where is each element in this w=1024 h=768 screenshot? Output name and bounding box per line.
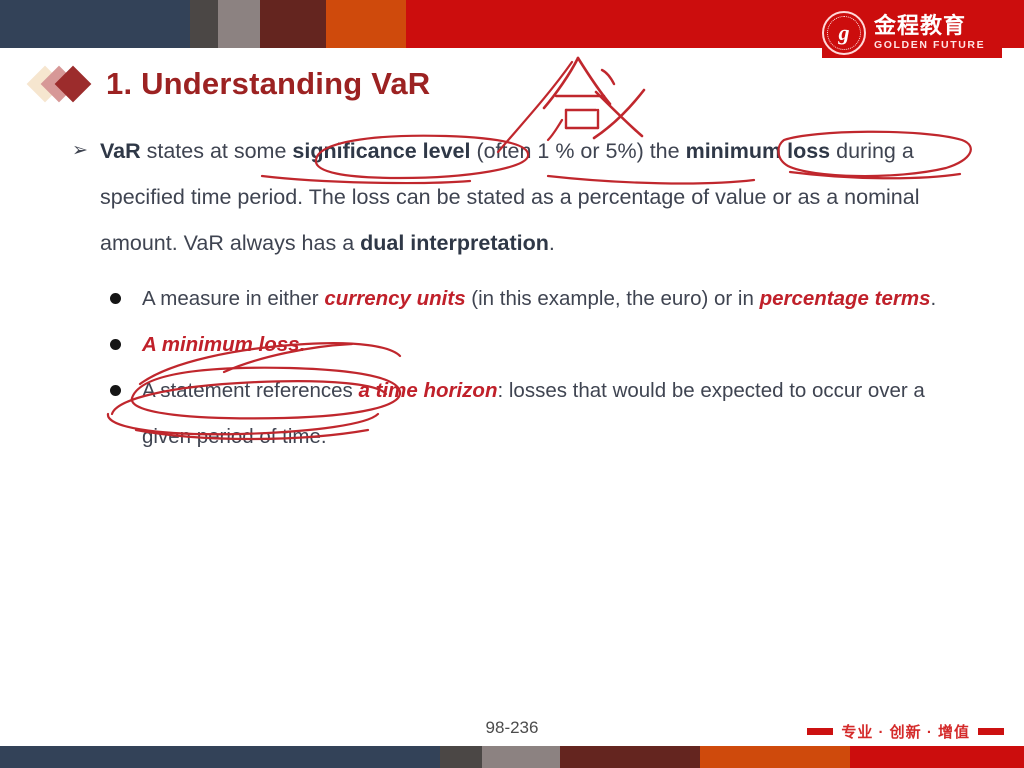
sub3-emphasis-time-horizon: a time horizon [359,379,498,402]
main-bullet: ➢ VaR states at some significance level … [0,128,1024,266]
band-maroon [260,0,326,48]
sub1-text-a: A measure in either [142,287,324,310]
sub1-emphasis-percentage-terms: percentage terms [760,287,931,310]
slogan-text: 专业 · 创新 · 增值 [841,721,970,742]
band-dark-gray [190,0,218,48]
logo-name-en: GOLDEN FUTURE [874,40,985,51]
sub-bullet-3: A statement references a time horizon: l… [0,368,1024,460]
slogan-bar-right-icon [978,728,1004,735]
main-bullet-bold-minimum-loss: minimum loss [686,139,831,163]
band-orange [326,0,406,48]
foot-band-red [850,746,1024,768]
main-bullet-lead: VaR [100,139,141,163]
band-gray [218,0,260,48]
sub-bullet-2: A minimum loss. [0,322,1024,368]
foot-band-dark-gray [440,746,482,768]
main-bullet-text-g: . [549,231,555,255]
sub-bullet-1: A measure in either currency units (in t… [0,276,1024,322]
main-bullet-text-a: states at some [141,139,293,163]
foot-band-navy [0,746,440,768]
foot-band-gray [482,746,560,768]
main-bullet-text-c: (often 1 % or 5%) the [470,139,685,163]
logo-name-cn: 金程教育 [874,15,985,37]
slide-content: ➢ VaR states at some significance level … [0,128,1024,460]
bottom-color-band [0,746,1024,768]
sub2-emphasis-minimum-loss: A minimum loss. [142,333,305,356]
sub3-text-a: A statement references [142,379,359,402]
sub1-text-b: (in this example, the euro) or in [466,287,760,310]
slide-title-row: 1. Understanding VaR [32,66,430,102]
arrow-bullet-icon: ➢ [72,128,88,174]
dot-bullet-icon [110,339,121,350]
golden-future-seal-icon: g [822,11,866,55]
foot-band-orange [700,746,850,768]
page-title: 1. Understanding VaR [106,66,430,102]
dot-bullet-icon [110,293,121,304]
foot-band-maroon [560,746,700,768]
main-bullet-bold-dual-interpretation: dual interpretation [360,231,549,255]
seal-monogram: g [839,22,850,44]
main-bullet-bold-significance: significance level [292,139,470,163]
sub1-text-c: . [931,287,937,310]
dot-bullet-icon [110,385,121,396]
sub1-emphasis-currency-units: currency units [324,287,465,310]
slogan-bar-left-icon [807,728,833,735]
band-navy [0,0,190,48]
footer-slogan: 专业 · 创新 · 增值 [807,721,1004,742]
brand-logo: g 金程教育 GOLDEN FUTURE [822,8,1002,58]
